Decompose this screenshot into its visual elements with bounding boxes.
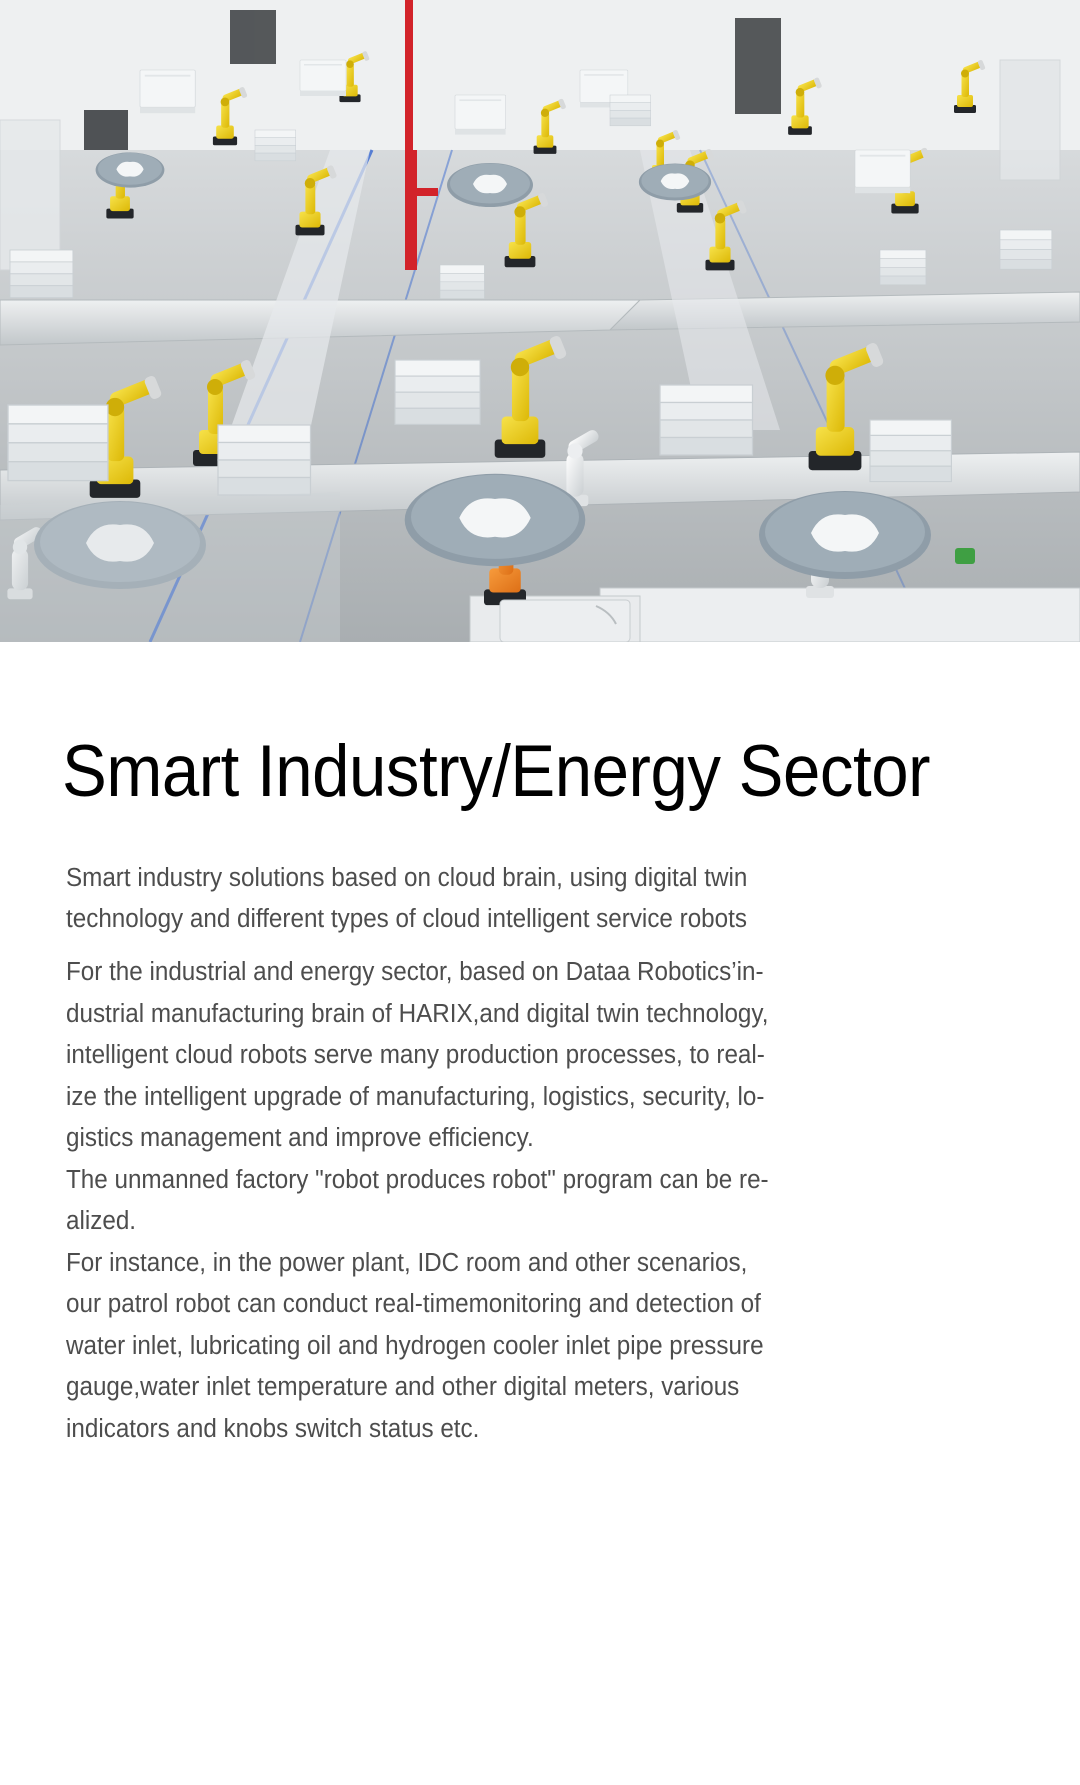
hero-image: [0, 0, 1080, 642]
paragraph-power-plant: For instance, in the power plant, IDC ro…: [66, 1243, 864, 1451]
factory-floor-illustration: [0, 0, 1080, 642]
body-copy: For the industrial and energy sector, ba…: [66, 952, 864, 1450]
paragraph-unmanned-factory: The unmanned factory "robot produces rob…: [66, 1160, 864, 1243]
lead-paragraph: Smart industry solutions based on cloud …: [66, 858, 845, 940]
page-root: Smart Industry/Energy Sector Smart indus…: [0, 0, 1080, 1785]
page-title: Smart Industry/Energy Sector: [62, 735, 930, 808]
paragraph-industrial-sector: For the industrial and energy sector, ba…: [66, 952, 864, 1160]
